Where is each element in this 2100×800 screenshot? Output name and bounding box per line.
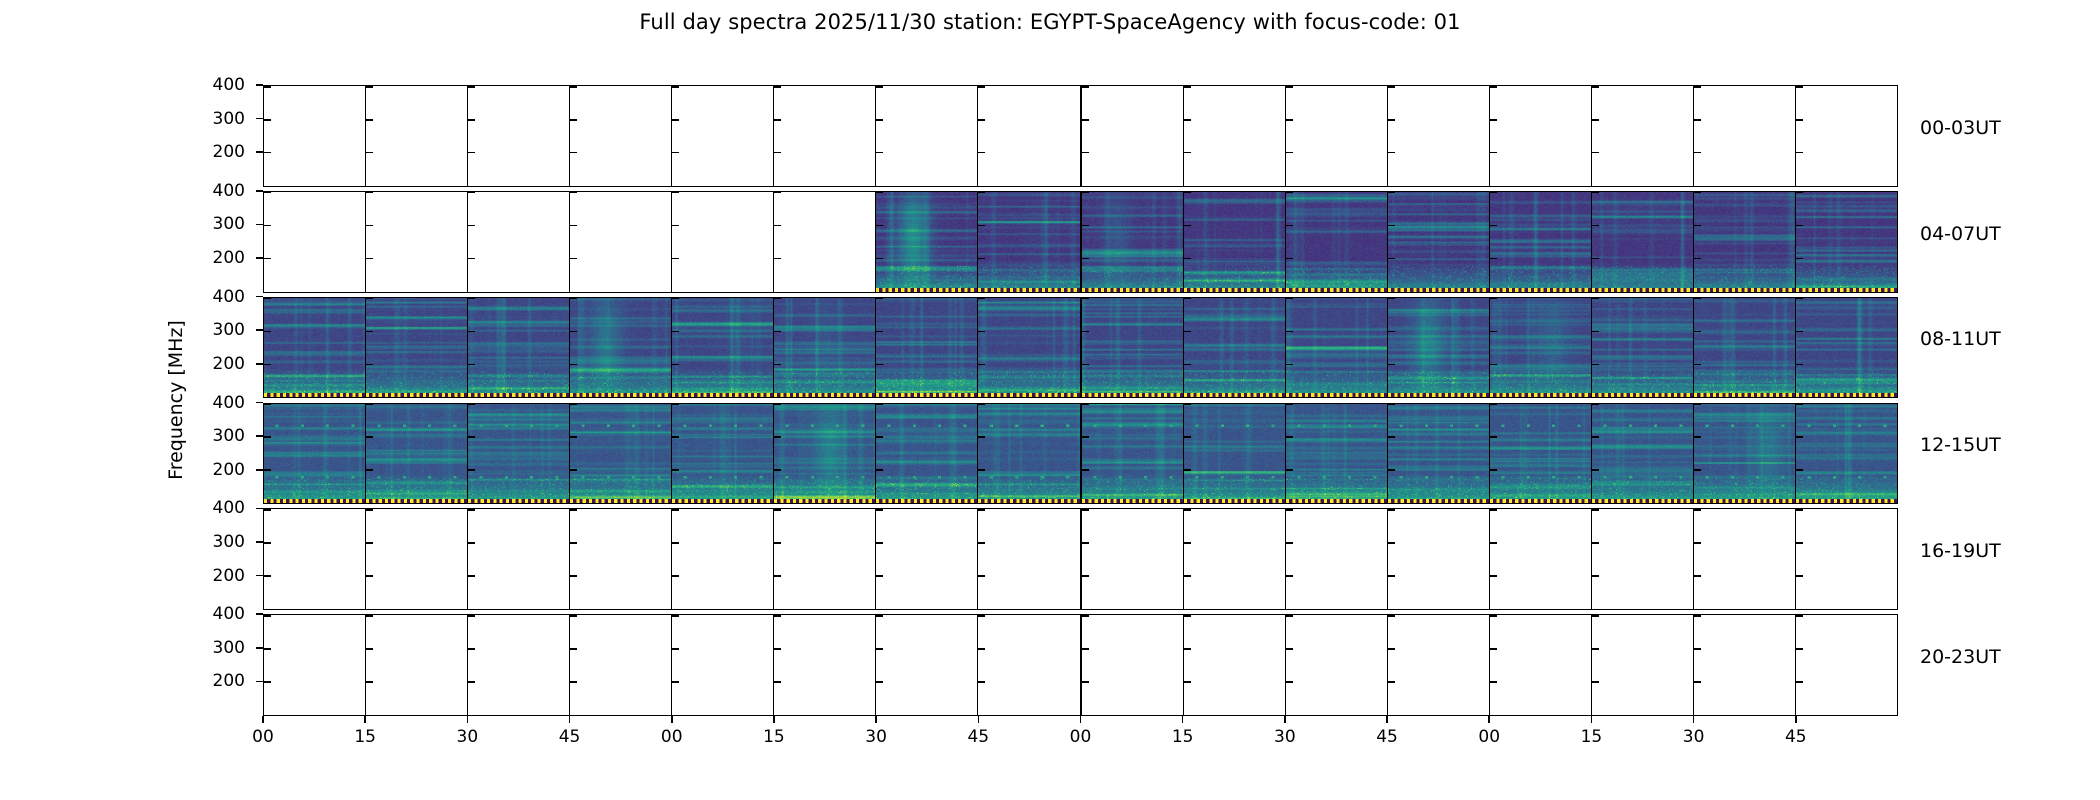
- panel-tick: [1592, 542, 1599, 544]
- panel-tick: [1388, 681, 1395, 683]
- panel-tick: [264, 575, 271, 577]
- panel-tick: [1286, 469, 1293, 471]
- panel-tick: [876, 364, 883, 366]
- panel-tick: [672, 575, 679, 577]
- x-axis-tick-label: 45: [1357, 727, 1417, 747]
- panel-tick: [468, 681, 475, 683]
- panel-tick: [570, 681, 577, 683]
- panel-tick: [1286, 364, 1293, 366]
- x-axis-tick-mark: [569, 716, 571, 723]
- y-axis-tick-label: 400: [189, 498, 245, 518]
- spectrogram-cell: [1387, 297, 1489, 399]
- spectrogram-cell: [1591, 191, 1693, 293]
- panel-tick: [1388, 225, 1395, 227]
- spectrogram-cell: [671, 191, 773, 293]
- panel-tick: [366, 509, 373, 511]
- x-axis-tick-label: 15: [1561, 727, 1621, 747]
- panel-tick: [774, 681, 781, 683]
- x-axis-tick-mark: [875, 716, 877, 723]
- spectrogram-cell: [1489, 614, 1591, 716]
- spectrogram-cell: [773, 614, 875, 716]
- panel-tick: [264, 86, 271, 88]
- panel-tick: [264, 509, 271, 511]
- x-axis-tick-label: 45: [540, 727, 600, 747]
- page-title: Full day spectra 2025/11/30 station: EGY…: [0, 10, 2100, 34]
- spectrogram-image: [1694, 298, 1795, 398]
- panel-tick: [672, 648, 679, 650]
- panel-tick: [672, 331, 679, 333]
- panel-tick: [1286, 119, 1293, 121]
- y-axis-tick-label: 200: [189, 460, 245, 480]
- panel-tick: [1490, 192, 1497, 194]
- panel-tick: [1388, 192, 1395, 194]
- panel-tick: [978, 152, 985, 154]
- panel-tick: [468, 364, 475, 366]
- panel-tick: [1796, 152, 1803, 154]
- panel-tick: [1082, 331, 1089, 333]
- spectrogram-cell: [1285, 403, 1387, 505]
- panel-tick: [978, 404, 985, 406]
- spectrogram-image: [1286, 298, 1387, 398]
- y-axis-tick-mark: [256, 435, 263, 437]
- panel-tick: [978, 648, 985, 650]
- panel-tick: [1184, 86, 1191, 88]
- panel-tick: [1082, 225, 1089, 227]
- panel-tick: [1286, 575, 1293, 577]
- panel-tick: [366, 119, 373, 121]
- spectrogram-cell: [671, 614, 773, 716]
- spectrogram-row-00-03ut: [263, 85, 1898, 187]
- panel-tick: [264, 615, 271, 617]
- spectrogram-image: [1286, 192, 1387, 292]
- panel-tick: [468, 575, 475, 577]
- panel-tick: [774, 119, 781, 121]
- spectrogram-cell: [365, 85, 467, 187]
- panel-tick: [366, 258, 373, 260]
- spectrogram-cell: [1489, 191, 1591, 293]
- panel-tick: [1592, 225, 1599, 227]
- panel-tick: [1490, 86, 1497, 88]
- panel-tick: [876, 681, 883, 683]
- x-axis-tick-label: 15: [744, 727, 804, 747]
- spectrogram-image: [672, 298, 773, 398]
- panel-tick: [1694, 542, 1701, 544]
- y-axis-title: Frequency [MHz]: [165, 320, 187, 480]
- spectrogram-cell: [977, 614, 1079, 716]
- panel-tick: [1490, 436, 1497, 438]
- x-axis-tick-label: 45: [948, 727, 1008, 747]
- panel-tick: [1796, 648, 1803, 650]
- panel-tick: [1796, 298, 1803, 300]
- spectrogram-image: [570, 298, 671, 398]
- spectrogram-cell: [671, 297, 773, 399]
- panel-tick: [468, 404, 475, 406]
- spectrogram-image: [1286, 404, 1387, 504]
- panel-tick: [366, 469, 373, 471]
- panel-tick: [1184, 331, 1191, 333]
- spectrogram-cell: [569, 403, 671, 505]
- panel-tick: [1796, 364, 1803, 366]
- panel-tick: [1184, 509, 1191, 511]
- y-axis-tick-mark: [256, 224, 263, 226]
- panel-tick: [978, 509, 985, 511]
- panel-tick: [1388, 298, 1395, 300]
- panel-tick: [978, 86, 985, 88]
- panel-tick: [1592, 681, 1599, 683]
- panel-tick: [1694, 615, 1701, 617]
- panel-tick: [1082, 575, 1089, 577]
- panel-tick: [570, 86, 577, 88]
- panel-tick: [774, 364, 781, 366]
- panel-tick: [1388, 509, 1395, 511]
- panel-tick: [1694, 119, 1701, 121]
- spectrogram-cell: [467, 508, 569, 610]
- panel-tick: [570, 225, 577, 227]
- spectrogram-image: [1388, 192, 1489, 292]
- panel-tick: [468, 152, 475, 154]
- spectrogram-image: [1184, 192, 1285, 292]
- spectrogram-cell: [263, 403, 365, 505]
- y-axis-tick-mark: [256, 469, 263, 471]
- spectrogram-cell: [977, 191, 1079, 293]
- spectrogram-image: [1592, 404, 1693, 504]
- panel-tick: [570, 258, 577, 260]
- y-axis-tick-label: 300: [189, 638, 245, 658]
- y-axis-tick-label: 200: [189, 566, 245, 586]
- x-axis-tick-mark: [1795, 716, 1797, 723]
- panel-tick: [774, 648, 781, 650]
- panel-tick: [876, 469, 883, 471]
- spectrogram-cell: [1693, 614, 1795, 716]
- spectrogram-cell: [1489, 297, 1591, 399]
- spectrogram-image: [1490, 404, 1591, 504]
- panel-tick: [570, 575, 577, 577]
- spectrogram-row-16-19ut: [263, 508, 1898, 610]
- panel-tick: [1694, 192, 1701, 194]
- spectrogram-cell: [467, 297, 569, 399]
- panel-tick: [264, 192, 271, 194]
- panel-tick: [774, 436, 781, 438]
- panel-tick: [876, 152, 883, 154]
- x-axis-tick-label: 15: [1153, 727, 1213, 747]
- panel-tick: [1286, 436, 1293, 438]
- spectrogram-image: [1184, 298, 1285, 398]
- panel-tick: [1082, 298, 1089, 300]
- panel-tick: [1082, 192, 1089, 194]
- panel-tick: [978, 298, 985, 300]
- panel-tick: [1184, 119, 1191, 121]
- panel-tick: [264, 298, 271, 300]
- panel-tick: [1694, 648, 1701, 650]
- y-axis-tick-mark: [256, 296, 263, 298]
- spectrogram-cell: [875, 403, 977, 505]
- panel-tick: [1082, 404, 1089, 406]
- panel-tick: [468, 469, 475, 471]
- panel-tick: [1184, 469, 1191, 471]
- spectrogram-image: [1082, 404, 1183, 504]
- panel-tick: [1490, 152, 1497, 154]
- panel-tick: [1184, 298, 1191, 300]
- spectrogram-image: [264, 298, 365, 398]
- panel-tick: [1082, 364, 1089, 366]
- y-axis-tick-mark: [256, 84, 263, 86]
- spectrogram-cell: [569, 614, 671, 716]
- panel-tick: [1286, 298, 1293, 300]
- y-axis-tick-mark: [256, 681, 263, 683]
- panel-tick: [876, 648, 883, 650]
- spectrogram-cell: [875, 508, 977, 610]
- panel-tick: [570, 364, 577, 366]
- spectrogram-cell: [1387, 403, 1489, 505]
- spectrogram-image: [570, 404, 671, 504]
- panel-tick: [672, 469, 679, 471]
- panel-tick: [978, 364, 985, 366]
- panel-tick: [1184, 225, 1191, 227]
- spectrogram-image: [1694, 404, 1795, 504]
- spectrogram-cell: [671, 85, 773, 187]
- spectrogram-cell: [875, 191, 977, 293]
- y-axis-tick-mark: [256, 363, 263, 365]
- panel-tick: [774, 152, 781, 154]
- panel-tick: [1286, 404, 1293, 406]
- spectrogram-cell: [263, 508, 365, 610]
- panel-tick: [672, 119, 679, 121]
- panel-tick: [570, 119, 577, 121]
- spectrogram-cell: [1285, 614, 1387, 716]
- y-axis-tick-label: 200: [189, 354, 245, 374]
- x-axis-tick-mark: [1386, 716, 1388, 723]
- panel-tick: [1490, 615, 1497, 617]
- panel-tick: [1796, 331, 1803, 333]
- panel-tick: [1490, 509, 1497, 511]
- x-axis-tick-label: 00: [233, 727, 293, 747]
- spectrogram-cell: [569, 297, 671, 399]
- panel-tick: [1286, 86, 1293, 88]
- spectrogram-image: [1388, 298, 1489, 398]
- panel-tick: [1694, 469, 1701, 471]
- y-axis-tick-mark: [256, 575, 263, 577]
- y-axis-tick-label: 300: [189, 214, 245, 234]
- x-axis-tick-mark: [467, 716, 469, 723]
- panel-tick: [1082, 119, 1089, 121]
- spectrogram-cell: [1591, 614, 1693, 716]
- panel-tick: [1184, 615, 1191, 617]
- spectrogram-cell: [1285, 85, 1387, 187]
- panel-tick: [876, 225, 883, 227]
- panel-tick: [366, 542, 373, 544]
- panel-tick: [876, 86, 883, 88]
- x-axis-tick-label: 30: [1664, 727, 1724, 747]
- x-axis-tick-mark: [1693, 716, 1695, 723]
- spectrogram-cell: [1183, 403, 1285, 505]
- panel-tick: [1388, 86, 1395, 88]
- panel-tick: [672, 404, 679, 406]
- panel-tick: [978, 258, 985, 260]
- spectrogram-cell: [365, 508, 467, 610]
- panel-tick: [264, 542, 271, 544]
- panel-tick: [366, 575, 373, 577]
- panel-tick: [1796, 404, 1803, 406]
- panel-tick: [570, 298, 577, 300]
- spectrogram-cell: [977, 508, 1079, 610]
- spectrogram-cell: [1693, 191, 1795, 293]
- spectrogram-cell: [1693, 403, 1795, 505]
- panel-tick: [1694, 331, 1701, 333]
- spectrogram-cell: [263, 191, 365, 293]
- spectrogram-image: [774, 404, 875, 504]
- row-label-04-07ut: 04-07UT: [1920, 223, 2001, 245]
- spectrogram-cell: [671, 403, 773, 505]
- x-axis-tick-label: 00: [1051, 727, 1111, 747]
- panel-tick: [366, 648, 373, 650]
- spectrogram-cell: [1693, 508, 1795, 610]
- panel-tick: [1184, 192, 1191, 194]
- x-axis-tick-mark: [978, 716, 980, 723]
- panel-tick: [1184, 575, 1191, 577]
- panel-tick: [1592, 86, 1599, 88]
- row-label-12-15ut: 12-15UT: [1920, 434, 2001, 456]
- panel-tick: [1388, 152, 1395, 154]
- spectrogram-cell: [365, 403, 467, 505]
- y-axis-tick-label: 400: [189, 75, 245, 95]
- panel-tick: [672, 298, 679, 300]
- panel-tick: [1796, 119, 1803, 121]
- y-axis-tick-label: 400: [189, 181, 245, 201]
- spectrogram-cell: [977, 403, 1079, 505]
- panel-tick: [774, 575, 781, 577]
- panel-tick: [1490, 225, 1497, 227]
- x-axis-tick-label: 30: [846, 727, 906, 747]
- spectrogram-cell: [1795, 403, 1898, 505]
- spectrogram-cell: [1080, 403, 1183, 505]
- plot-area: [263, 85, 1898, 716]
- panel-tick: [468, 119, 475, 121]
- spectrogram-image: [1592, 192, 1693, 292]
- x-axis-tick-label: 30: [1255, 727, 1315, 747]
- spectrogram-cell: [1693, 297, 1795, 399]
- y-axis-tick-mark: [256, 329, 263, 331]
- panel-tick: [672, 542, 679, 544]
- y-axis-tick-label: 200: [189, 142, 245, 162]
- spectrogram-cell: [1489, 508, 1591, 610]
- panel-tick: [468, 192, 475, 194]
- panel-tick: [1082, 86, 1089, 88]
- panel-tick: [1592, 298, 1599, 300]
- panel-tick: [1796, 509, 1803, 511]
- panel-tick: [672, 225, 679, 227]
- panel-tick: [672, 681, 679, 683]
- spectrogram-image: [1796, 404, 1897, 504]
- panel-tick: [978, 331, 985, 333]
- spectrogram-cell: [671, 508, 773, 610]
- spectrogram-row-12-15ut: [263, 403, 1898, 505]
- panel-tick: [264, 681, 271, 683]
- panel-tick: [1184, 258, 1191, 260]
- panel-tick: [366, 298, 373, 300]
- y-axis-tick-mark: [256, 508, 263, 510]
- panel-tick: [468, 258, 475, 260]
- y-axis-tick-mark: [256, 190, 263, 192]
- panel-tick: [366, 404, 373, 406]
- x-axis-tick-label: 00: [1459, 727, 1519, 747]
- panel-tick: [876, 542, 883, 544]
- spectrogram-cell: [1183, 297, 1285, 399]
- x-axis-tick-mark: [262, 716, 264, 723]
- panel-tick: [1082, 542, 1089, 544]
- panel-tick: [672, 615, 679, 617]
- y-axis-tick-mark: [256, 402, 263, 404]
- panel-tick: [1082, 469, 1089, 471]
- panel-tick: [1082, 681, 1089, 683]
- panel-tick: [570, 404, 577, 406]
- panel-tick: [468, 86, 475, 88]
- spectrogram-cell: [1489, 403, 1591, 505]
- panel-tick: [264, 119, 271, 121]
- panel-tick: [1388, 436, 1395, 438]
- x-axis-tick-mark: [1488, 716, 1490, 723]
- x-axis-tick-mark: [671, 716, 673, 723]
- spectrogram-cell: [1183, 508, 1285, 610]
- spectrogram-cell: [1080, 508, 1183, 610]
- panel-tick: [1388, 575, 1395, 577]
- panel-tick: [978, 542, 985, 544]
- x-axis-tick-mark: [1284, 716, 1286, 723]
- spectrogram-cell: [773, 508, 875, 610]
- panel-tick: [1388, 258, 1395, 260]
- y-axis-tick-mark: [256, 118, 263, 120]
- spectrogram-cell: [365, 614, 467, 716]
- panel-tick: [1490, 331, 1497, 333]
- panel-tick: [1694, 681, 1701, 683]
- panel-tick: [1796, 615, 1803, 617]
- panel-tick: [1388, 119, 1395, 121]
- x-axis-tick-mark: [1591, 716, 1593, 723]
- panel-tick: [1796, 258, 1803, 260]
- panel-tick: [876, 298, 883, 300]
- panel-tick: [1694, 86, 1701, 88]
- panel-tick: [1286, 542, 1293, 544]
- panel-tick: [1694, 298, 1701, 300]
- panel-tick: [570, 469, 577, 471]
- panel-tick: [1490, 681, 1497, 683]
- panel-tick: [1796, 225, 1803, 227]
- panel-tick: [366, 152, 373, 154]
- spectrogram-cell: [875, 297, 977, 399]
- panel-tick: [672, 192, 679, 194]
- panel-tick: [366, 436, 373, 438]
- spectrogram-cell: [467, 85, 569, 187]
- x-axis-tick-mark: [1080, 716, 1082, 723]
- spectrogram-cell: [1387, 191, 1489, 293]
- panel-tick: [1694, 404, 1701, 406]
- panel-tick: [876, 615, 883, 617]
- panel-tick: [1592, 436, 1599, 438]
- panel-tick: [1592, 119, 1599, 121]
- x-axis-tick-label: 15: [335, 727, 395, 747]
- panel-tick: [1082, 258, 1089, 260]
- spectrogram-image: [1490, 298, 1591, 398]
- panel-tick: [1388, 542, 1395, 544]
- spectrogram-cell: [1591, 297, 1693, 399]
- panel-tick: [366, 192, 373, 194]
- y-axis-tick-label: 400: [189, 604, 245, 624]
- spectrogram-image: [1388, 404, 1489, 504]
- panel-tick: [366, 86, 373, 88]
- spectrogram-image: [1796, 192, 1897, 292]
- panel-tick: [978, 192, 985, 194]
- spectrogram-image: [1796, 298, 1897, 398]
- panel-tick: [774, 298, 781, 300]
